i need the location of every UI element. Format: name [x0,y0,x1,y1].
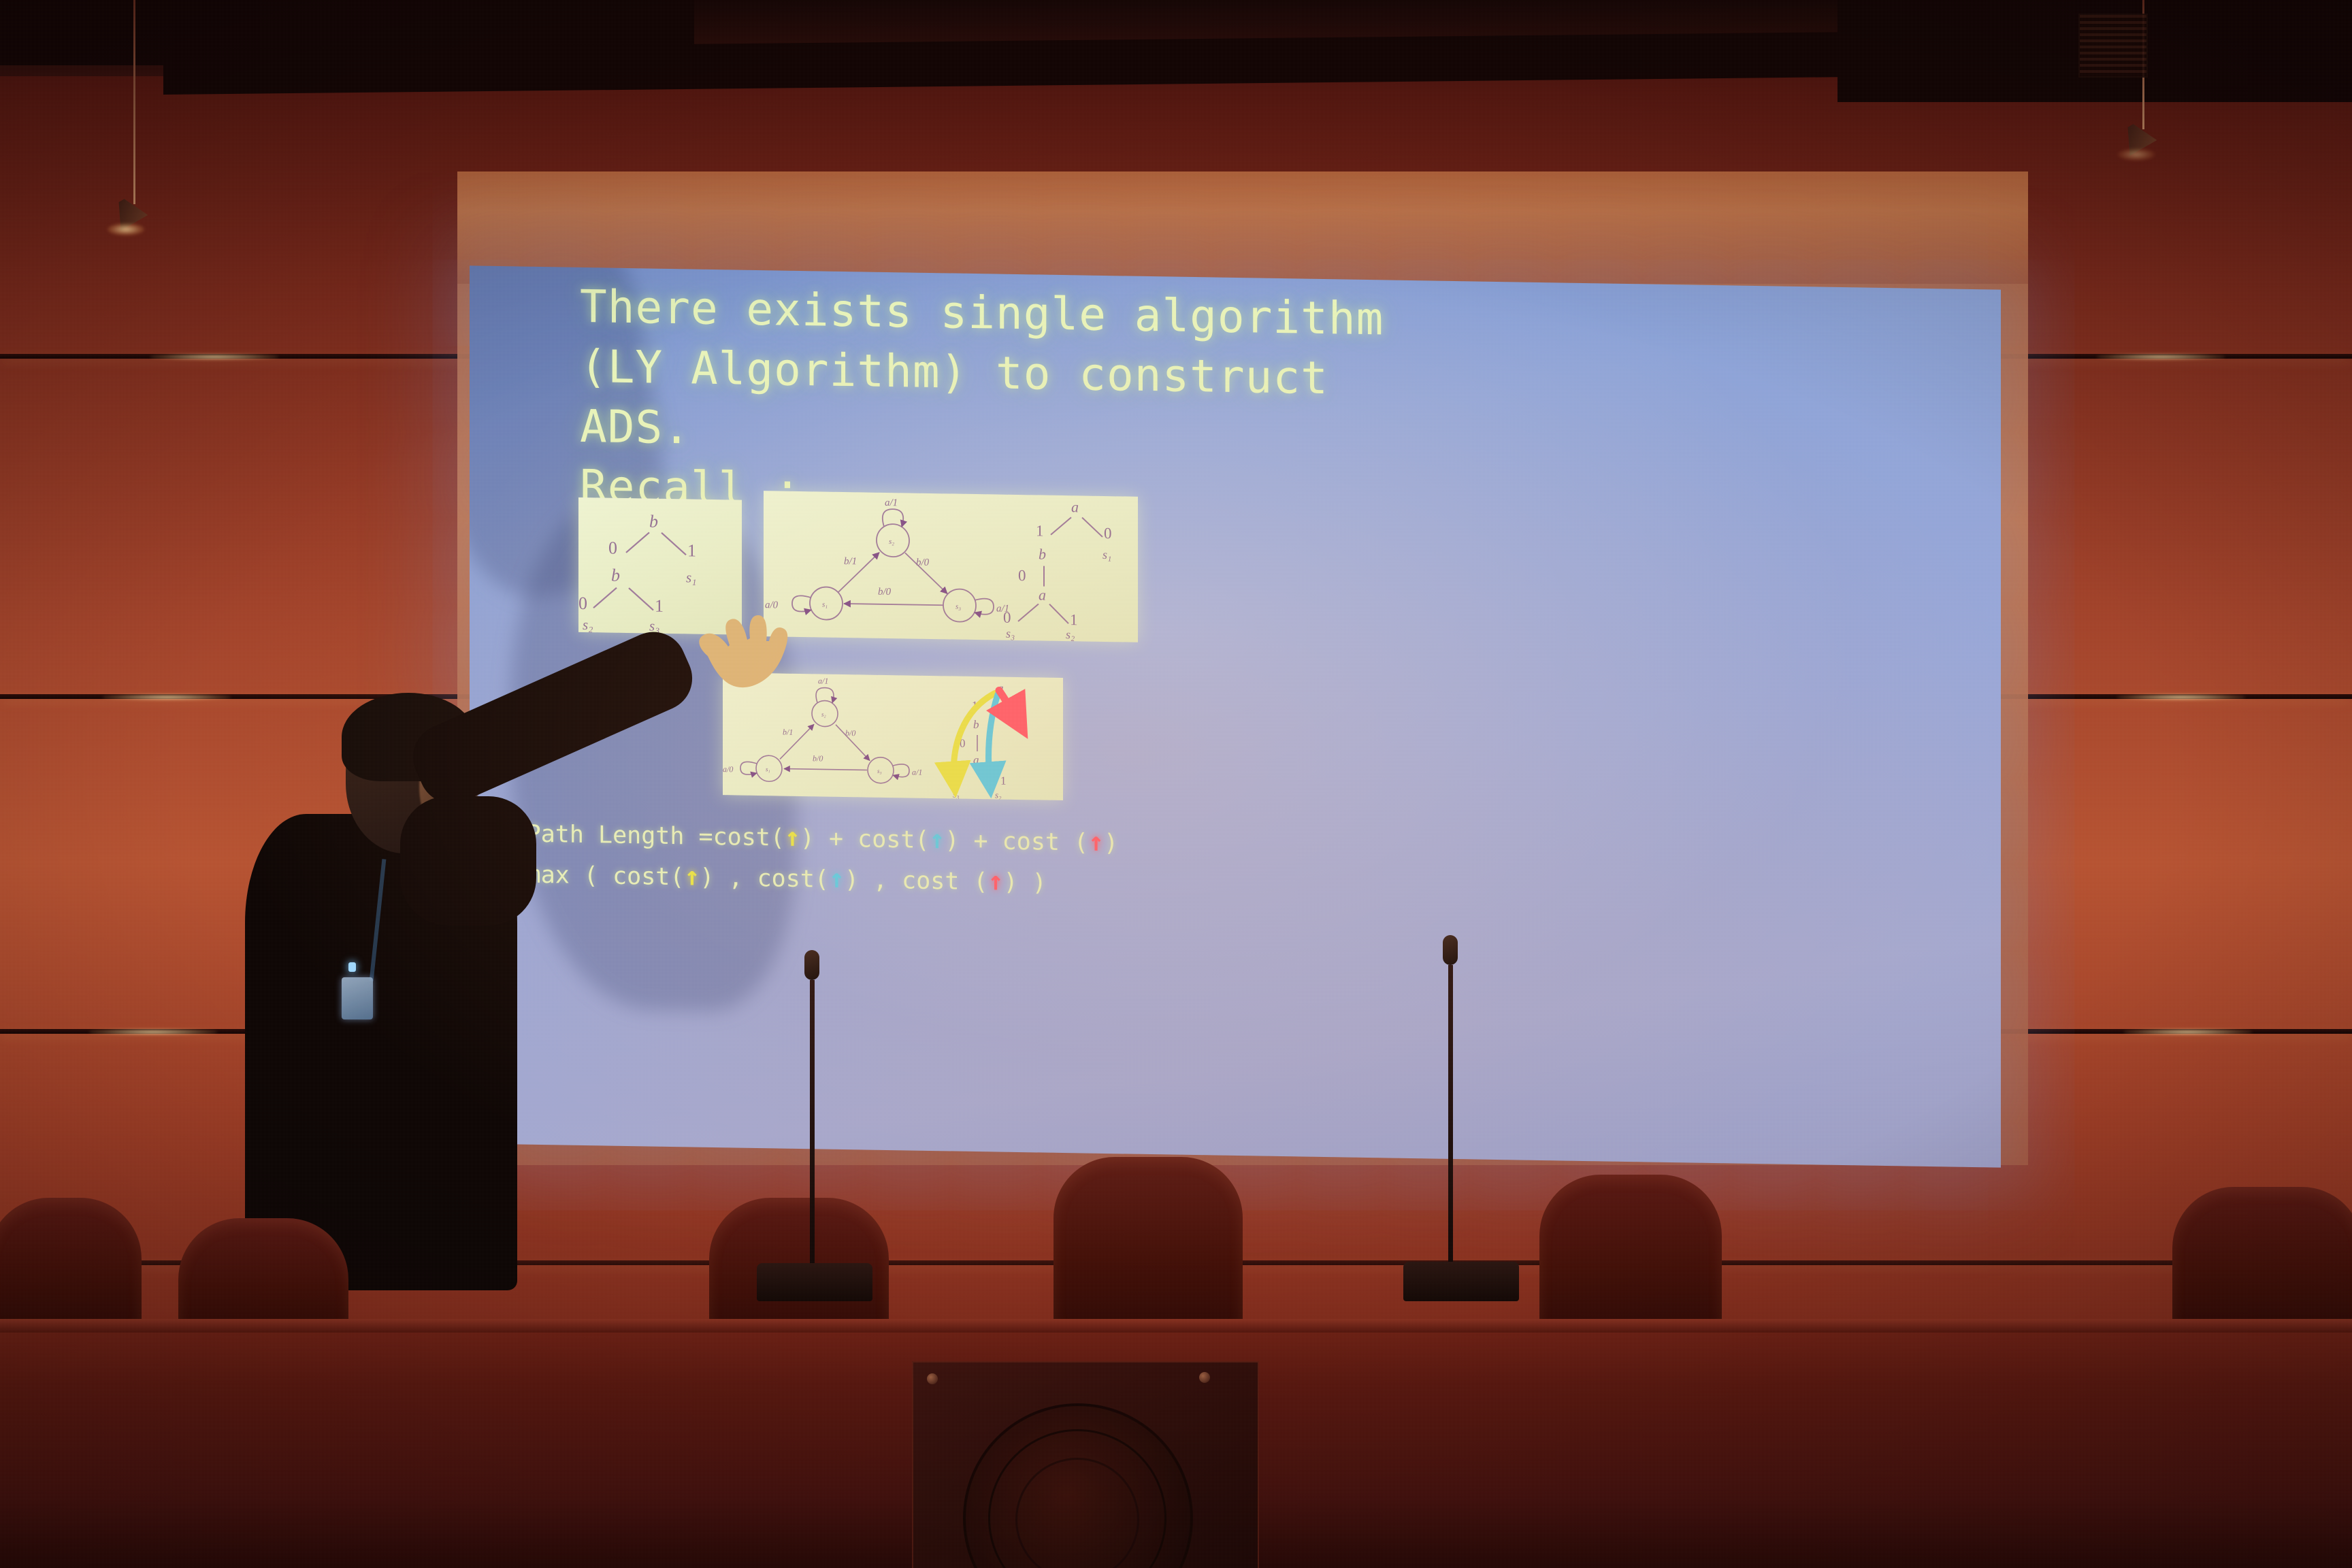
right-tree-label-a2: a [1039,586,1046,603]
machine-svg: a/1 b/1 b/0 b/0 a/0 a/1 s₂ s₁ s₃ a 1 0 [764,491,1138,642]
presenter-badge [342,977,373,1019]
presenter-badge-light [348,962,356,972]
formula-2-arrow-red: ↑ [988,866,1004,896]
pendant-glow-right [2118,148,2155,161]
bottom-state-label-s2: s₂ [821,710,826,717]
cyan-cost-arrow [989,694,998,780]
right-tree-label-s3: s₃ [1006,627,1015,640]
lecture-hall-photo: There exists single algorithm (LY Algori… [0,0,2352,1568]
plaque-screw-right [1199,1372,1210,1383]
bottom-label-b1: b/1 [783,728,793,737]
microphone-1-head [804,950,819,980]
formula-1-arrow-yellow: ↑ [785,822,800,852]
microphone-1-base [757,1263,872,1301]
bottom-edge-s3-s1 [784,769,867,770]
left-tree-label-s1: s₁ [686,569,696,585]
microphone-1-stem [810,980,815,1286]
pendant-wire-left [133,0,135,204]
left-tree-label-s2: s₂ [583,617,593,633]
chair-1 [0,1198,142,1327]
right-tree-label-0c: 0 [1003,609,1011,626]
right-tree-label-1b: 1 [1070,611,1077,628]
left-tree-label-1b: 1 [655,596,664,616]
edge-label-b1: b/1 [844,556,857,567]
bottom-label-a1-right: a/1 [912,768,922,777]
bottom-tree-label-s2: s₂ [995,789,1002,800]
microphone-2-head [1443,935,1458,965]
groove-light-1 [150,354,279,360]
left-tree-label-1a: 1 [687,540,696,560]
groove-light-2 [102,694,231,700]
edge-label-a1-top: a/1 [885,497,898,508]
desk-top-edge [0,1319,2352,1333]
left-tree-label-0a: 0 [608,538,617,558]
ceiling-vent [2078,14,2148,78]
edge-label-b0-right: b/0 [916,557,930,568]
left-tree-label-0b: 0 [578,593,587,613]
chair-2 [178,1218,348,1334]
right-tree-label-0a: 0 [1104,525,1111,542]
formula-1-mid1: ) + cost( [800,825,930,854]
formula-2-suffix: ) ) [1003,869,1046,897]
plaque-screw-left [927,1373,938,1384]
bottom-state-label-s3: s₃ [877,768,882,774]
bottom-tree-label-s3: s₃ [953,789,960,799]
state-label-s3: s₃ [955,603,961,611]
bottom-label-b0-right: b/0 [845,728,855,738]
bottom-tree-label-a2: a [973,753,979,766]
microphone-2-base [1403,1262,1519,1301]
formula-1-arrow-red: ↑ [1088,827,1104,857]
microphone-2-stem [1448,965,1453,1285]
right-tree-label-s1: s₁ [1102,548,1111,561]
chair-5 [1539,1175,1722,1331]
right-tree-label-0b: 0 [1018,567,1026,584]
groove-light-3 [88,1029,218,1035]
formula-1-mid2: ) + cost ( [945,827,1088,856]
groove-light-1b [2096,354,2225,360]
right-tree-label-b: b [1039,545,1046,562]
formula-1-arrow-cyan: ↑ [930,824,945,854]
bottom-state-label-s1: s₁ [766,766,770,772]
right-tree-label-1: 1 [1036,522,1043,539]
chair-6 [2172,1187,2352,1330]
pendant-glow-left [108,223,144,235]
bottom-self-loop-s3 [893,764,909,777]
formula-2-mid2: ) , cost ( [845,866,988,896]
presenter-shoulder [400,796,536,926]
presenter-hand [671,591,800,720]
state-label-s1: s₁ [822,600,828,608]
left-tree-label-b2: b [611,566,620,585]
chair-4 [1053,1157,1243,1327]
figure-machine-and-right-tree: a/1 b/1 b/0 b/0 a/0 a/1 s₂ s₁ s₃ a 1 0 [764,491,1138,642]
slide-line-3: ADS. [580,397,691,459]
state-label-s2: s₂ [889,538,894,546]
right-tree-label-s2: s₂ [1066,627,1075,641]
left-tree-label-b1: b [649,511,658,531]
formula-1-suffix: ) [1104,830,1118,857]
formula-2-arrow-cyan: ↑ [829,864,845,894]
edge-s3-s1 [844,604,943,605]
bottom-label-a1-top: a/1 [818,676,828,685]
bottom-tree-label-b: b [973,718,979,731]
groove-light-2b [2117,694,2246,700]
edge-label-b0-bottom: b/0 [878,587,892,598]
right-tree-label-a1: a [1071,498,1079,515]
projection-screen-valance [457,171,2028,284]
self-loop-s3 [975,598,994,615]
groove-light-3b [2123,1029,2253,1035]
bottom-tree-label-1b: 1 [1000,774,1006,787]
slide-line-2: (LY Algorithm) to construct [580,337,1328,408]
bottom-label-b0-bottom: b/0 [813,753,823,763]
